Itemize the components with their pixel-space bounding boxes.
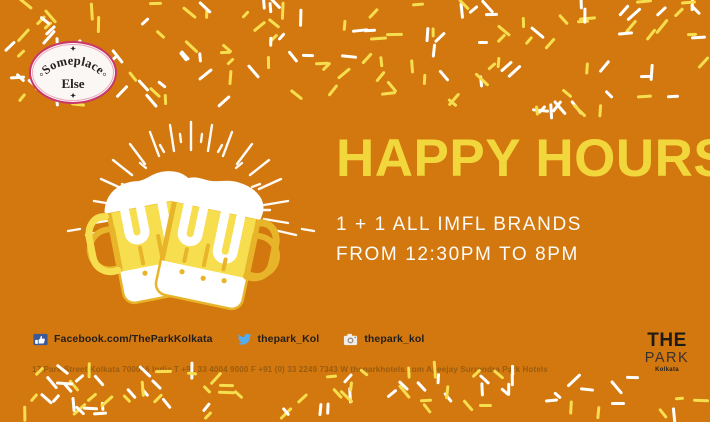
- confetti-dash: [585, 62, 589, 74]
- confetti-dash: [553, 100, 567, 115]
- park-logo-the: THE: [641, 331, 693, 350]
- confetti-dash: [56, 381, 73, 385]
- confetti-dash: [299, 9, 302, 27]
- confetti-dash: [618, 31, 633, 35]
- confetti-dash: [228, 70, 232, 85]
- confetti-dash: [221, 43, 232, 53]
- confetti-dash: [74, 405, 85, 416]
- confetti-dash: [431, 44, 436, 58]
- confetti-dash: [149, 87, 161, 99]
- confetti-dash: [535, 105, 539, 115]
- confetti-dash: [479, 404, 492, 407]
- confetti-dash: [420, 399, 432, 403]
- confetti-dash: [90, 3, 94, 21]
- confetti-dash: [658, 408, 668, 419]
- confetti-dash: [151, 379, 162, 390]
- confetti-dash: [500, 60, 513, 72]
- confetti-dash: [398, 380, 409, 391]
- confetti-dash: [204, 410, 213, 419]
- confetti-dash: [479, 75, 483, 87]
- confetti-dash: [277, 32, 285, 41]
- confetti-dash: [569, 401, 573, 415]
- confetti-dash: [474, 72, 489, 86]
- confetti-dash: [468, 5, 479, 14]
- confetti-dash: [44, 9, 58, 24]
- confetti-dash: [645, 28, 656, 41]
- confetti-dash: [611, 402, 625, 405]
- confetti-dash: [697, 56, 709, 69]
- confetti-dash: [687, 33, 697, 36]
- social-link-instagram[interactable]: thepark_kol: [343, 332, 424, 347]
- confetti-dash: [327, 84, 338, 97]
- confetti-dash: [458, 0, 470, 11]
- confetti-dash: [93, 374, 104, 387]
- confetti-dash: [332, 387, 343, 399]
- confetti-dash: [140, 16, 149, 25]
- confetti-dash: [128, 71, 138, 82]
- confetti-dash: [636, 0, 652, 4]
- confetti-dash: [583, 8, 586, 24]
- confetti-dash: [577, 19, 589, 23]
- confetti-dash: [322, 62, 332, 72]
- confetti-dash: [247, 64, 260, 79]
- confetti-dash: [626, 376, 639, 379]
- confetti-dash: [46, 376, 59, 390]
- confetti-dash: [434, 32, 446, 44]
- confetti-dash: [202, 402, 211, 412]
- confetti-dash: [496, 24, 510, 36]
- confetti-dash: [416, 381, 427, 393]
- address-line: 17 Park Street Kolkata 700016 India T +9…: [32, 365, 548, 374]
- confetti-dash: [179, 51, 188, 61]
- confetti-dash: [379, 56, 383, 67]
- confetti-dash: [184, 39, 198, 53]
- confetti-dash: [610, 380, 623, 395]
- headline-block: HAPPY HOURS 1 + 1 ALL IMFL BRANDS FROM 1…: [336, 132, 696, 266]
- confetti-dash: [544, 399, 557, 403]
- confetti-dash: [44, 21, 53, 30]
- confetti-dash: [361, 52, 373, 64]
- confetti-dash: [637, 94, 652, 98]
- confetti-dash: [83, 407, 98, 411]
- confetti-dash: [279, 407, 292, 420]
- confetti-dash: [156, 30, 166, 40]
- confetti-dash: [86, 392, 97, 402]
- confetti-dash: [115, 85, 128, 99]
- confetti-dash: [16, 48, 25, 57]
- confetti-dash: [507, 65, 521, 78]
- confetti-dash: [496, 57, 500, 68]
- confetti-dash: [667, 95, 679, 99]
- confetti-dash: [624, 19, 637, 33]
- offer-subline-2: FROM 12:30PM TO 8PM: [336, 244, 696, 266]
- confetti-dash: [161, 397, 172, 409]
- confetti-dash: [690, 0, 694, 11]
- confetti-dash: [51, 394, 60, 403]
- park-logo-city: Kolkata: [641, 366, 693, 374]
- confetti-dash: [579, 17, 596, 22]
- confetti-dash: [101, 402, 105, 412]
- confetti-dash: [487, 63, 496, 72]
- confetti-dash: [511, 373, 514, 386]
- confetti-dash: [289, 89, 302, 100]
- confetti-dash: [369, 36, 386, 40]
- confetti-dash: [267, 56, 270, 69]
- confetti-dash: [198, 53, 202, 63]
- facebook-thumbsup-icon: [33, 332, 48, 347]
- page-title: HAPPY HOURS: [336, 132, 696, 185]
- confetti-dash: [693, 399, 709, 403]
- confetti-dash: [198, 1, 212, 14]
- confetti-dash: [552, 100, 563, 113]
- the-park-kolkata-logo: THE PARK Kolkata: [641, 331, 693, 374]
- confetti-dash: [650, 64, 654, 81]
- happy-hours-poster: ✦ ✦ ◦Someplace◦ Else: [0, 0, 710, 422]
- confetti-dash: [24, 405, 27, 421]
- confetti-dash: [459, 3, 464, 19]
- confetti-dash: [327, 402, 330, 414]
- confetti-dash: [368, 8, 379, 19]
- confetti-dash: [478, 41, 488, 44]
- confetti-dash: [262, 0, 266, 10]
- confetti-dash: [496, 34, 505, 44]
- confetti-dash: [268, 2, 272, 13]
- confetti-dash: [93, 411, 107, 415]
- confetti-dash: [182, 6, 197, 19]
- confetti-dash: [485, 13, 498, 16]
- confetti-dash: [386, 33, 403, 36]
- confetti-dash: [217, 95, 231, 108]
- confetti-dash: [640, 75, 651, 78]
- confetti-dash: [596, 406, 600, 419]
- confetti-dash: [437, 373, 441, 384]
- confetti-dash: [10, 75, 25, 79]
- confetti-dash: [579, 387, 593, 391]
- confetti-dash: [74, 374, 84, 383]
- confetti-dash: [566, 373, 581, 387]
- confetti-dash: [226, 57, 235, 65]
- confetti-dash: [690, 4, 701, 15]
- confetti-dash: [445, 385, 450, 400]
- clinking-beer-mugs-icon: [60, 118, 322, 313]
- confetti-dash: [423, 74, 427, 85]
- confetti-dash: [141, 380, 145, 396]
- confetti-dash: [145, 93, 158, 107]
- confetti-dash: [572, 103, 586, 117]
- confetti-dash: [68, 379, 79, 391]
- confetti-dash: [18, 0, 33, 10]
- confetti-dash: [17, 28, 30, 42]
- confetti-dash: [426, 27, 430, 42]
- confetti-dash: [550, 103, 554, 120]
- confetti-dash: [16, 73, 26, 82]
- confetti-dash: [220, 51, 231, 55]
- confetti-dash: [553, 391, 562, 399]
- confetti-dash: [439, 70, 450, 82]
- confetti-dash: [558, 14, 569, 26]
- confetti-dash: [500, 387, 509, 395]
- confetti-dash: [288, 50, 299, 63]
- confetti-dash: [267, 18, 280, 29]
- confetti-dash: [297, 393, 308, 404]
- confetti-dash: [410, 59, 414, 73]
- confetti-dash: [538, 105, 547, 115]
- confetti-dash: [152, 393, 163, 404]
- confetti-dash: [605, 89, 614, 98]
- confetti-dash: [45, 25, 56, 36]
- confetti-dash: [202, 385, 211, 394]
- confetti-dash: [351, 28, 367, 33]
- confetti-dash: [241, 11, 250, 20]
- confetti-dash: [71, 397, 75, 412]
- confetti-dash: [18, 92, 27, 102]
- confetti-dash: [218, 391, 235, 394]
- confetti-dash: [626, 8, 641, 22]
- confetti-dash: [480, 382, 484, 396]
- confetti-dash: [447, 98, 457, 107]
- confetti-dash: [99, 395, 113, 408]
- confetti-dash: [570, 100, 583, 115]
- park-logo-park: PARK: [641, 350, 693, 366]
- confetti-dash: [302, 54, 314, 57]
- confetti-dash: [35, 16, 45, 26]
- confetti-dash: [126, 387, 137, 399]
- confetti-dash: [691, 35, 706, 39]
- confetti-dash: [381, 92, 396, 97]
- social-link-facebook[interactable]: Facebook.com/TheParkKolkata: [33, 332, 213, 347]
- confetti-dash: [532, 108, 549, 113]
- confetti-dash: [343, 19, 347, 30]
- confetti-dash: [443, 392, 453, 403]
- confetti-dash: [40, 392, 53, 404]
- confetti-dash: [348, 387, 352, 403]
- confetti-dash: [4, 41, 16, 53]
- confetti-dash: [386, 388, 397, 398]
- confetti-dash: [655, 6, 666, 17]
- logo-curved-text: ◦Someplace◦ Else: [29, 41, 117, 104]
- confetti-dash: [164, 94, 167, 105]
- svg-text:Else: Else: [61, 76, 84, 91]
- confetti-dash: [73, 402, 87, 415]
- instagram-camera-icon: [343, 332, 358, 347]
- confetti-dash: [337, 68, 351, 80]
- confetti-dash: [157, 81, 167, 90]
- confetti-dash: [340, 54, 356, 59]
- confetti-dash: [282, 407, 290, 416]
- confetti-dash: [180, 50, 190, 61]
- confetti-dash: [431, 27, 434, 37]
- confetti-dash: [233, 390, 243, 400]
- confetti-dash: [252, 20, 266, 32]
- confetti-dash: [218, 384, 233, 387]
- confetti-dash: [522, 17, 525, 28]
- confetti-dash: [675, 397, 684, 401]
- confetti-dash: [530, 26, 545, 39]
- confetti-dash: [375, 71, 386, 83]
- confetti-dash: [364, 29, 376, 33]
- confetti-dash: [672, 407, 677, 422]
- social-label-twitter: thepark_Kol: [258, 333, 320, 345]
- confetti-dash: [137, 79, 149, 92]
- social-label-instagram: thepark_kol: [364, 333, 424, 345]
- confetti-dash: [422, 402, 432, 414]
- social-label-facebook: Facebook.com/TheParkKolkata: [54, 333, 213, 345]
- confetti-dash: [269, 34, 279, 44]
- social-links-row: Facebook.com/TheParkKolkata thepark_Kol: [33, 330, 424, 348]
- confetti-dash: [62, 382, 73, 394]
- confetti-dash: [340, 390, 354, 404]
- confetti-dash: [681, 1, 696, 5]
- confetti-dash: [598, 104, 602, 117]
- confetti-dash: [326, 374, 337, 378]
- confetti-dash: [39, 15, 50, 25]
- confetti-dash: [412, 3, 424, 7]
- confetti-dash: [447, 92, 460, 106]
- confetti-dash: [579, 0, 582, 10]
- confetti-dash: [562, 88, 573, 98]
- confetti-dash: [205, 9, 208, 18]
- confetti-dash: [398, 384, 411, 399]
- confetti-dash: [479, 374, 491, 385]
- confetti-bottom-band: [0, 368, 710, 422]
- confetti-dash: [268, 0, 282, 10]
- confetti-dash: [315, 62, 329, 66]
- confetti-dash: [655, 19, 669, 35]
- confetti-dash: [524, 35, 533, 44]
- confetti-dash: [97, 16, 100, 33]
- confetti-dash: [122, 394, 131, 403]
- confetti-dash: [140, 387, 149, 397]
- confetti-dash: [29, 392, 38, 402]
- confetti-dash: [599, 60, 611, 73]
- confetti-dash: [269, 36, 272, 46]
- confetti-dash: [198, 68, 213, 81]
- confetti-dash: [149, 2, 162, 5]
- confetti-dash: [462, 399, 474, 412]
- someplace-else-logo: ✦ ✦ ◦Someplace◦ Else: [29, 41, 117, 104]
- confetti-dash: [618, 4, 629, 16]
- confetti-dash: [673, 7, 683, 17]
- confetti-dash: [387, 81, 398, 93]
- confetti-dash: [480, 0, 494, 14]
- confetti-dash: [545, 37, 557, 50]
- social-link-twitter[interactable]: thepark_Kol: [237, 332, 320, 347]
- confetti-dash: [281, 1, 285, 19]
- confetti-dash: [507, 383, 510, 396]
- twitter-bird-icon: [237, 332, 252, 347]
- confetti-dash: [349, 381, 353, 391]
- offer-subline-1: 1 + 1 ALL IMFL BRANDS: [336, 214, 696, 236]
- confetti-dash: [318, 403, 322, 416]
- confetti-dash: [343, 373, 353, 384]
